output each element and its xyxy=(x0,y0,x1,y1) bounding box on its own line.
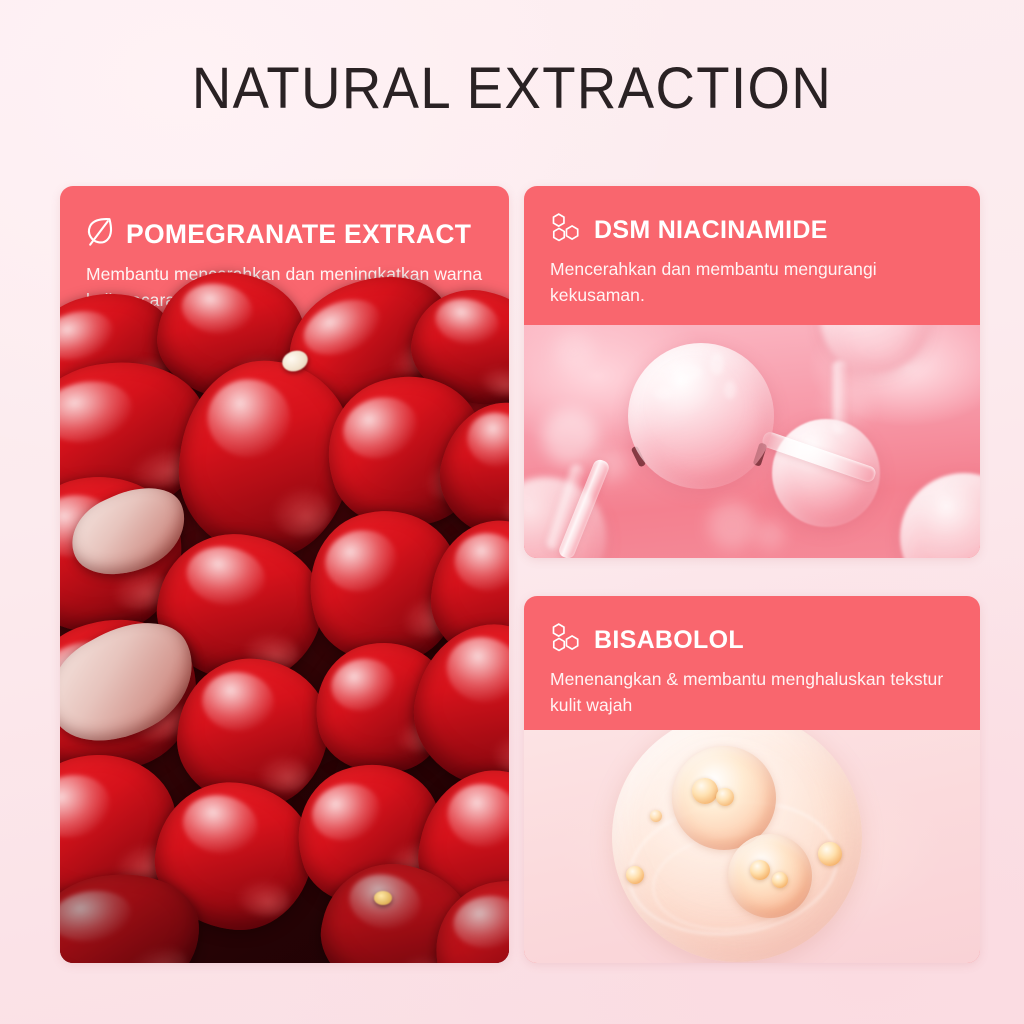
card-description: Mencerahkan dan membantu mengurangi keku… xyxy=(550,256,954,308)
molecule-hexagons-icon xyxy=(550,622,581,658)
image-pomegranate-seeds xyxy=(60,325,509,963)
card-header-niacinamide: DSM NIACINAMIDE Mencerahkan dan membantu… xyxy=(524,186,980,325)
image-molecule-spheres xyxy=(524,325,980,558)
ingredient-card-niacinamide: DSM NIACINAMIDE Mencerahkan dan membantu… xyxy=(524,186,980,558)
page-title: NATURAL EXTRACTION xyxy=(31,58,994,120)
infographic-canvas: NATURAL EXTRACTION POMEGRANATE EXTRACT M… xyxy=(0,0,1024,1024)
ingredient-card-bisabolol: BISABOLOL Menenangkan & membantu menghal… xyxy=(524,596,980,963)
molecule-hexagons-icon xyxy=(550,212,581,248)
ingredient-card-pomegranate: POMEGRANATE EXTRACT Membantu mencerahkan… xyxy=(60,186,509,963)
card-title: DSM NIACINAMIDE xyxy=(594,216,828,244)
card-description: Menenangkan & membantu menghaluskan teks… xyxy=(550,666,954,718)
card-title: POMEGRANATE EXTRACT xyxy=(126,220,471,248)
leaf-icon xyxy=(86,216,113,252)
card-title: BISABOLOL xyxy=(594,626,744,654)
card-header-bisabolol: BISABOLOL Menenangkan & membantu menghal… xyxy=(524,596,980,730)
image-serum-bubble xyxy=(524,730,980,963)
